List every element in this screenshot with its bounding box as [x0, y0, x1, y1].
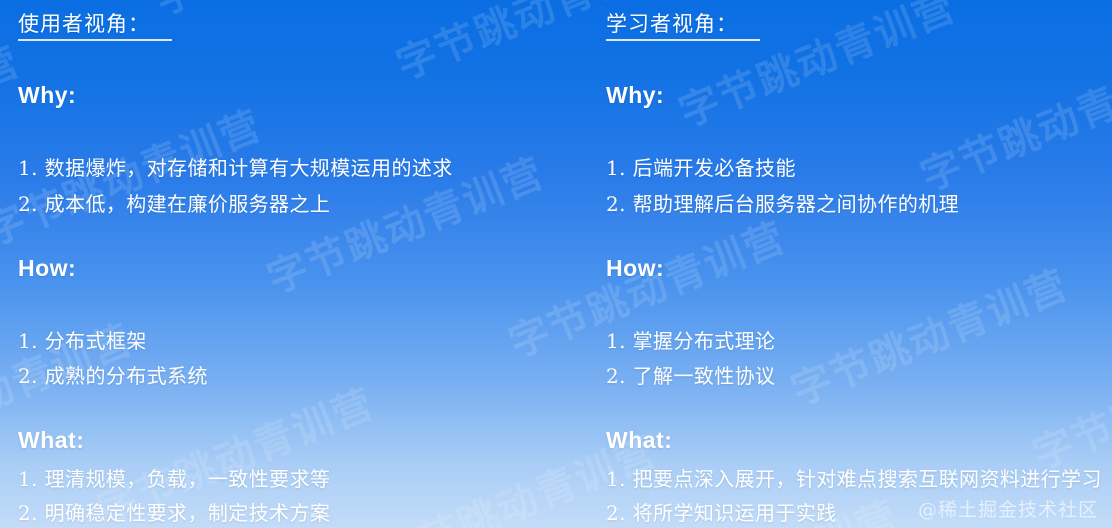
- list-item: 2. 帮助理解后台服务器之间协作的机理: [606, 188, 959, 217]
- section-heading-how: How:: [18, 255, 76, 282]
- list-item: 2. 明确稳定性要求，制定技术方案: [18, 497, 330, 526]
- list-item: 1. 分布式框架: [18, 325, 147, 354]
- column-title: 学习者视角：: [606, 12, 760, 41]
- section-heading-how: How:: [606, 255, 664, 282]
- content-columns: 使用者视角： Why: 1. 数据爆炸，对存储和计算有大规模运用的述求 2. 成…: [0, 0, 1112, 528]
- list-item: 2. 成本低，构建在廉价服务器之上: [18, 188, 330, 217]
- list-item: 1. 后端开发必备技能: [606, 152, 796, 181]
- column-user-perspective: 使用者视角： Why: 1. 数据爆炸，对存储和计算有大规模运用的述求 2. 成…: [0, 0, 595, 528]
- section-heading-what: What:: [18, 427, 84, 454]
- section-heading-what: What:: [606, 427, 672, 454]
- column-title: 使用者视角：: [18, 12, 172, 41]
- list-item: 1. 把要点深入展开，针对难点搜索互联网资料进行学习: [606, 463, 1102, 492]
- list-item: 1. 数据爆炸，对存储和计算有大规模运用的述求: [18, 152, 453, 181]
- column-learner-perspective: 学习者视角： Why: 1. 后端开发必备技能 2. 帮助理解后台服务器之间协作…: [595, 0, 1112, 528]
- section-heading-why: Why:: [606, 82, 664, 109]
- list-item: 2. 了解一致性协议: [606, 360, 775, 389]
- list-item: 2. 将所学知识运用于实践: [606, 497, 837, 526]
- slide-canvas: 字节跳动青训营 字节跳动青训营 字节跳动青训营 字节跳动青训营 字节跳动青训营 …: [0, 0, 1112, 528]
- list-item: 2. 成熟的分布式系统: [18, 360, 208, 389]
- list-item: 1. 掌握分布式理论: [606, 325, 775, 354]
- section-heading-why: Why:: [18, 82, 76, 109]
- list-item: 1. 理清规模，负载，一致性要求等: [18, 463, 330, 492]
